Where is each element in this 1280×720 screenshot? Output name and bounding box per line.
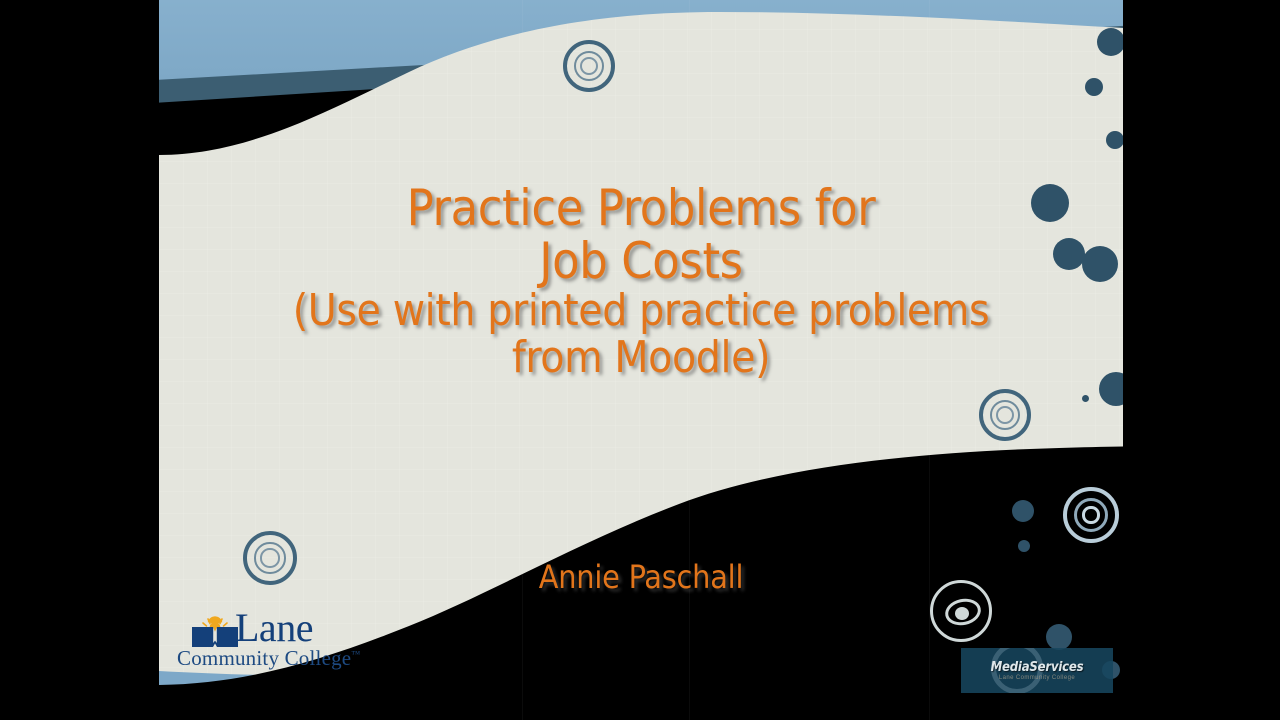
concentric-rings-icon [563, 40, 615, 92]
decor-dot [1106, 131, 1123, 149]
decor-dot [1046, 624, 1072, 650]
lane-community-college-logo: Lane Community College™ [177, 608, 397, 670]
screen: Practice Problems for Job Costs (Use wit… [0, 0, 1280, 720]
decor-dot [1097, 28, 1123, 56]
decor-dot [1018, 540, 1030, 552]
watermark-label: MediaServices [961, 660, 1113, 675]
slide-author: Annie Paschall [159, 558, 1123, 596]
decor-dot [1053, 238, 1085, 270]
decor-dot [1082, 395, 1089, 402]
decor-dot [1085, 78, 1103, 96]
video-seam [522, 0, 523, 720]
open-book-sunrise-icon [191, 616, 239, 648]
concentric-rings-icon [1063, 487, 1119, 543]
pillarbox-right [1123, 0, 1280, 720]
watermark-sublabel: Lane Community College [961, 675, 1113, 681]
swirl-core-dot [955, 607, 969, 620]
decor-dot [1031, 184, 1069, 222]
concentric-rings-icon [979, 389, 1031, 441]
decor-dot [1012, 500, 1034, 522]
video-seam [689, 0, 690, 720]
logo-tagline-text: Community College [177, 646, 351, 670]
logo-tagline: Community College™ [177, 646, 360, 671]
pillarbox-left [0, 0, 159, 720]
decor-dot [1082, 246, 1118, 282]
logo-wordmark: Lane [235, 604, 313, 651]
presentation-slide: Practice Problems for Job Costs (Use wit… [159, 0, 1123, 720]
media-services-watermark: MediaServices Lane Community College [961, 648, 1113, 693]
logo-trademark: ™ [351, 649, 360, 659]
